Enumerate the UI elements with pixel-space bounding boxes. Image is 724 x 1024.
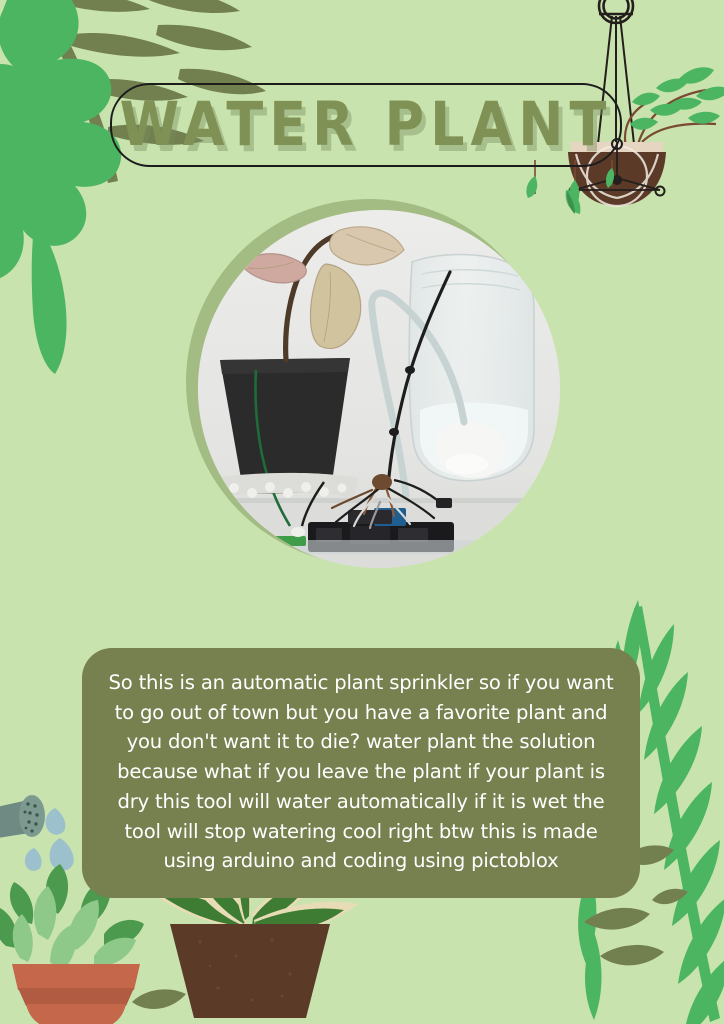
olive-leaf-small-icon — [130, 980, 190, 1024]
olive-leaf-accent-icon — [558, 188, 598, 228]
page-title: WATER PLANT — [120, 95, 613, 155]
description-text: So this is an automatic plant sprinkler … — [100, 668, 622, 876]
oak-leaf-icon — [0, 0, 175, 400]
project-photo — [198, 210, 560, 568]
description-card: So this is an automatic plant sprinkler … — [82, 648, 640, 898]
title-banner: WATER PLANT — [110, 83, 622, 167]
project-photo-illustration — [198, 210, 560, 568]
poster-canvas: WATER PLANT — [0, 0, 724, 1024]
